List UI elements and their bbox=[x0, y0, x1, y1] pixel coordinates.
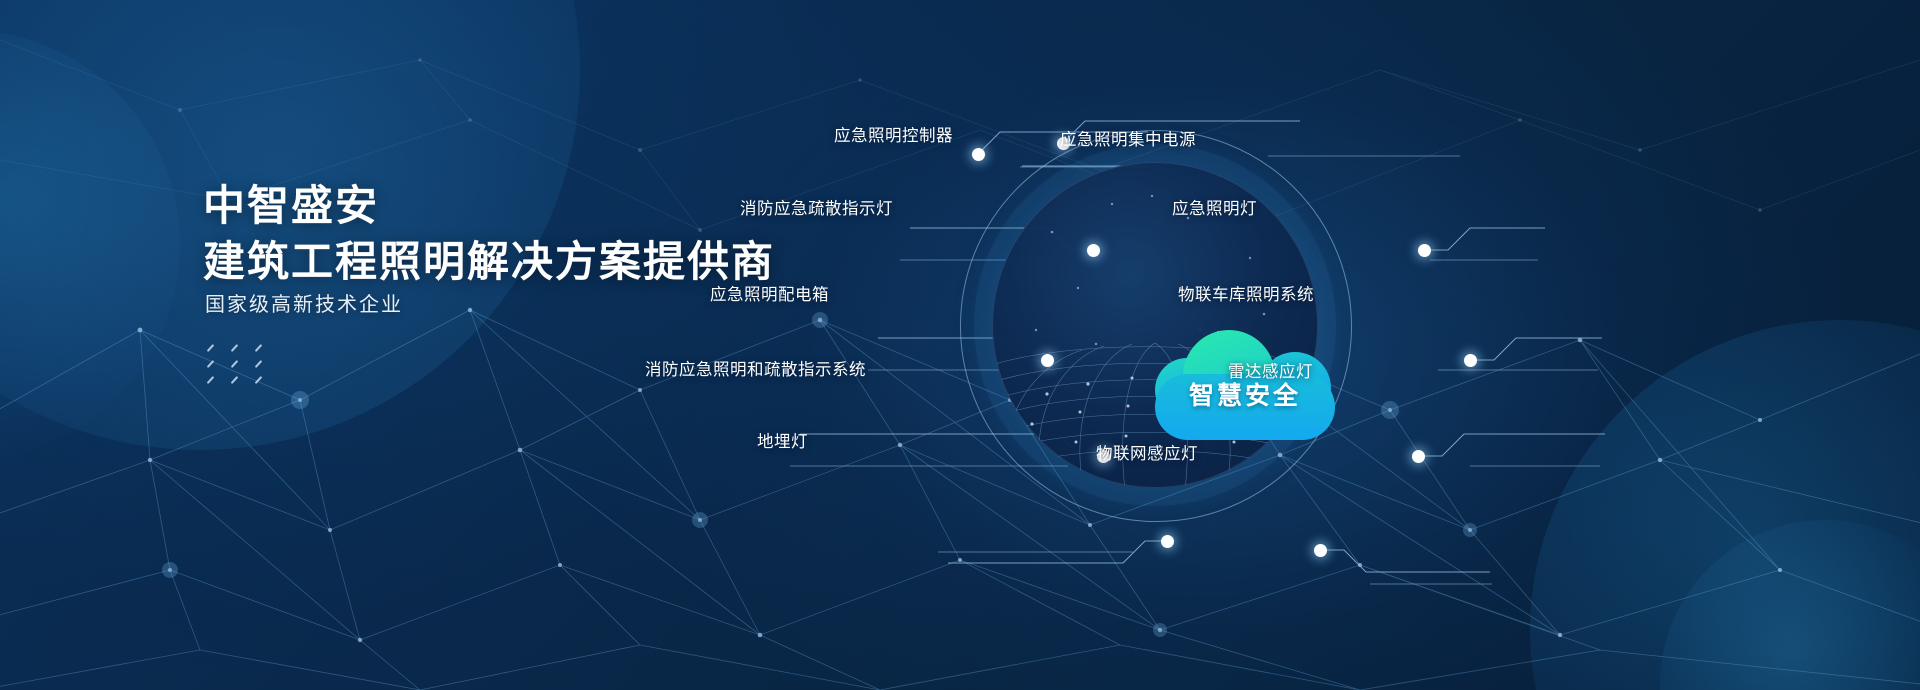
headline-line-2: 建筑工程照明解决方案提供商 bbox=[203, 234, 775, 290]
ring-node-radar-sensor-light[interactable] bbox=[1412, 450, 1425, 463]
decorative-dash-grid bbox=[206, 340, 278, 388]
dash-mark bbox=[207, 360, 215, 368]
headline-line-1: 中智盛安 bbox=[203, 178, 775, 234]
label-fire-emergency-lighting-and-evacuation-system[interactable]: 消防应急照明和疏散指示系统 bbox=[645, 356, 866, 380]
dash-mark bbox=[255, 360, 263, 368]
hero-banner: 中智盛安 建筑工程照明解决方案提供商 国家级高新技术企业 bbox=[0, 0, 1920, 690]
ring-node-distribution-box[interactable] bbox=[1041, 354, 1054, 367]
ring-node-buried-ground-light[interactable] bbox=[1161, 535, 1174, 548]
dash-mark bbox=[255, 344, 263, 352]
ring-node-iot-sensor-light[interactable] bbox=[1314, 544, 1327, 557]
ring-node-iot-garage-lighting[interactable] bbox=[1464, 354, 1477, 367]
ring-node-emergency-lighting-controller[interactable] bbox=[972, 148, 985, 161]
label-radar-sensor-light[interactable]: 雷达感应灯 bbox=[1228, 358, 1313, 382]
label-emergency-lighting-distribution-box[interactable]: 应急照明配电箱 bbox=[710, 281, 829, 305]
subtitle: 国家级高新技术企业 bbox=[205, 288, 403, 317]
label-fire-emergency-evacuation-sign-light[interactable]: 消防应急疏散指示灯 bbox=[740, 195, 893, 219]
dash-mark bbox=[255, 376, 263, 384]
dash-mark bbox=[231, 360, 239, 368]
dash-mark bbox=[207, 344, 215, 352]
label-iot-sensor-light[interactable]: 物联网感应灯 bbox=[1096, 440, 1198, 464]
headline-block: 中智盛安 建筑工程照明解决方案提供商 bbox=[203, 178, 775, 290]
label-iot-garage-lighting-system[interactable]: 物联车库照明系统 bbox=[1178, 281, 1314, 305]
ring-node-emergency-light[interactable] bbox=[1087, 244, 1100, 257]
dash-mark bbox=[231, 376, 239, 384]
label-emergency-light[interactable]: 应急照明灯 bbox=[1172, 195, 1257, 219]
label-emergency-lighting-central-power[interactable]: 应急照明集中电源 bbox=[1060, 126, 1196, 150]
dash-mark bbox=[231, 344, 239, 352]
label-emergency-lighting-controller[interactable]: 应急照明控制器 bbox=[834, 122, 953, 146]
ring-node-emergency-light-right[interactable] bbox=[1418, 244, 1431, 257]
label-buried-ground-light[interactable]: 地埋灯 bbox=[757, 428, 808, 452]
dash-mark bbox=[207, 376, 215, 384]
